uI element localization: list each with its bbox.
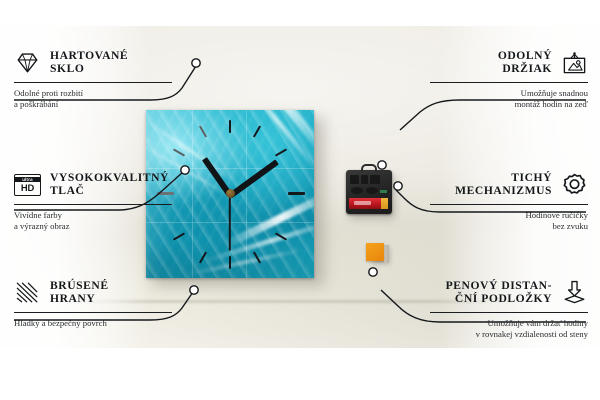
feature-title: HARTOVANÉ SKLO <box>50 48 128 75</box>
ultra-hd-icon: ultra HD <box>14 171 41 198</box>
hd-icon-main-text: HD <box>21 182 34 193</box>
feature-high-quality-print[interactable]: ultra HD VYSOKOKVALITNÝ TLAČ Vivídne far… <box>14 170 172 232</box>
feature-desc-line2: montáž hodin na zeď <box>430 99 588 110</box>
infographic-canvas: HARTOVANÉ SKLO Odolné proti rozbití a po… <box>0 0 600 400</box>
feature-title: PENOVÝ DISTAN- ČNÍ PODLOŽKY <box>446 278 552 305</box>
feature-divider <box>14 204 172 205</box>
feature-description: Odolné proti rozbití a poškrábání <box>14 88 172 110</box>
feature-desc-line2: v rovnakej vzdialenosti od steny <box>430 329 588 340</box>
movement-hanger <box>361 164 377 172</box>
feature-desc-line1: Umožňuje vám držať hodiny <box>430 318 588 329</box>
feature-polished-edges[interactable]: BRÚSENÉ HRANY Hladký a bezpečný povrch <box>14 278 172 329</box>
feature-divider <box>14 312 172 313</box>
feature-title-line1: ODOLNÝ <box>498 49 552 62</box>
feature-divider <box>430 312 588 313</box>
brushed-edges-icon <box>14 279 41 306</box>
press-down-pad-icon <box>561 279 588 306</box>
feature-desc-line1: Odolné proti rozbití <box>14 88 172 99</box>
feature-title-line2: MECHANIZMUS <box>455 184 552 197</box>
feature-description: Umožňuje vám držať hodiny v rovnakej vzd… <box>430 318 588 340</box>
feature-title-line2: TLAČ <box>50 184 169 197</box>
feature-title-line1: HARTOVANÉ <box>50 49 128 62</box>
battery <box>349 198 388 209</box>
gear-icon <box>561 171 588 198</box>
diamond-icon <box>14 49 41 76</box>
feature-divider <box>14 82 172 83</box>
feature-desc-line1: Vivídne farby <box>14 210 172 221</box>
feature-desc-line2: a výrazný obraz <box>14 221 172 232</box>
feature-desc-line1: Hodinové ručičky <box>430 210 588 221</box>
feature-divider <box>430 204 588 205</box>
foam-spacer-side <box>384 245 389 263</box>
feature-description: Vivídne farby a výrazný obraz <box>14 210 172 232</box>
feature-title-line1: PENOVÝ DISTAN- <box>446 279 552 292</box>
feature-title: TICHÝ MECHANIZMUS <box>455 170 552 197</box>
feature-title-line2: DRŽIAK <box>498 62 552 75</box>
feature-description: Hodinové ručičky bez zvuku <box>430 210 588 232</box>
feature-title-line2: ČNÍ PODLOŽKY <box>446 292 552 305</box>
feature-title-line1: TICHÝ <box>455 171 552 184</box>
feature-desc-line1: Hladký a bezpečný povrch <box>14 318 172 329</box>
feature-title: ODOLNÝ DRŽIAK <box>498 48 552 75</box>
second-hand <box>229 195 231 251</box>
picture-hanger-icon <box>561 49 588 76</box>
feature-title: BRÚSENÉ HRANY <box>50 278 109 305</box>
feature-description: Umožňuje snadnou montáž hodin na zeď <box>430 88 588 110</box>
feature-title: VYSOKOKVALITNÝ TLAČ <box>50 170 169 197</box>
feature-desc-line1: Umožňuje snadnou <box>430 88 588 99</box>
feature-tempered-glass[interactable]: HARTOVANÉ SKLO Odolné proti rozbití a po… <box>14 48 172 110</box>
feature-title-line1: BRÚSENÉ <box>50 279 109 292</box>
feature-durable-hanger[interactable]: ODOLNÝ DRŽIAK Umožňuje snadnou montáž ho… <box>430 48 588 110</box>
feature-title-line1: VYSOKOKVALITNÝ <box>50 171 169 184</box>
clock-movement <box>346 170 392 214</box>
feature-desc-line2: bez zvuku <box>430 221 588 232</box>
feature-desc-line2: a poškrábání <box>14 99 172 110</box>
feature-silent-mechanism[interactable]: TICHÝ MECHANIZMUS Hodinové ručičky bez z… <box>430 170 588 232</box>
feature-title-line2: HRANY <box>50 292 109 305</box>
feature-title-line2: SKLO <box>50 62 128 75</box>
feature-description: Hladký a bezpečný povrch <box>14 318 172 329</box>
foam-spacer <box>366 243 384 261</box>
feature-divider <box>430 82 588 83</box>
feature-foam-spacers[interactable]: PENOVÝ DISTAN- ČNÍ PODLOŽKY Umožňuje vám… <box>430 278 588 340</box>
clock-hub <box>226 189 235 198</box>
